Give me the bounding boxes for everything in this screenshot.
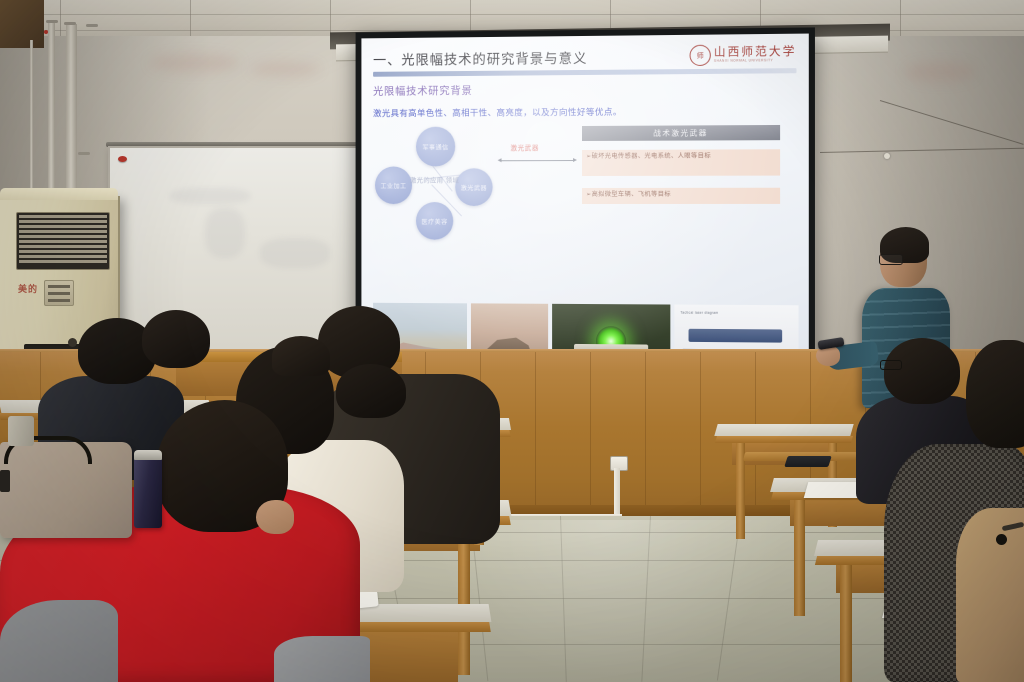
wall-conduit-pipe	[48, 22, 55, 212]
thermos-cap	[134, 450, 162, 460]
panel-item-2: ➢高拟微型车辆、飞机等目标	[582, 188, 780, 204]
university-name-en: SHANXI NORMAL UNIVERSITY	[714, 58, 797, 63]
projection-screen-surface: 一、光限幅技术的研究背景与意义 师 山西师范大学 SHANXI NORMAL U…	[361, 34, 808, 387]
outlet-conduit	[614, 468, 620, 520]
diagram-bubble-1: 军事通信	[416, 127, 455, 167]
panel-heading: 战术激光武器	[582, 125, 780, 141]
diagram-bubble-4: 医疗美容	[416, 202, 453, 240]
audience-a1-hand	[256, 500, 294, 534]
ac-control-panel[interactable]	[44, 280, 74, 306]
thermos-bottle[interactable]	[134, 452, 162, 528]
lecture-hall-photo: ● Redleaf 美的 一、光限幅技术的研究背景与意义 师	[0, 0, 1024, 682]
jacket-grey-panel-right	[274, 636, 370, 682]
university-seal-icon: 师	[690, 45, 711, 66]
slide-title-rule	[373, 68, 796, 77]
ac-grille	[16, 212, 110, 270]
schematic-laser-gun	[689, 329, 783, 343]
handbag-clasp	[0, 470, 10, 492]
audience-a6-glasses-icon	[880, 360, 902, 370]
university-name-cn: 山西师范大学	[714, 47, 797, 59]
slide-content: 一、光限幅技术的研究背景与意义 师 山西师范大学 SHANXI NORMAL U…	[361, 34, 808, 387]
desk-folder[interactable]	[784, 456, 832, 467]
wire-clip	[884, 153, 890, 159]
diagram-center-label: 激光的应用 领域	[406, 176, 463, 185]
cup[interactable]	[8, 416, 34, 446]
slide-body-text: 激光具有高单色性、高相干性、高亮度，以及方向性好等优点。	[373, 105, 796, 120]
diagram-bubble-2: 工业加工	[375, 166, 412, 204]
wall-stain	[150, 54, 240, 72]
wall-stain	[250, 62, 320, 76]
ac-knob[interactable]	[68, 338, 77, 347]
panel-item-1: ➢破坏光电传感器、光电系统、人眼等目标	[582, 149, 780, 176]
slide-title: 一、光限幅技术的研究背景与意义	[373, 46, 587, 68]
pipe-marker-dot	[44, 30, 48, 34]
schematic-caption: Tactical laser diagram	[680, 311, 718, 315]
university-logo: 师 山西师范大学 SHANXI NORMAL UNIVERSITY	[690, 44, 797, 66]
slide-subtitle: 光限幅技术研究背景	[373, 80, 796, 98]
diagram-arrow-label: 激光武器	[510, 142, 539, 152]
wall-stain	[905, 62, 975, 82]
jacket-button	[996, 534, 1007, 545]
ac-top-cap	[0, 188, 118, 200]
jacket-grey-panel	[0, 600, 118, 682]
slide-diagram: 军事通信 工业加工 激光武器 医疗美容 激光的应用 领域 激光武器 战术激光武器…	[373, 125, 796, 243]
ac-brand-mark: 美的	[18, 282, 38, 295]
ceiling-corner-beam	[0, 0, 44, 48]
projection-screen[interactable]: 一、光限幅技术的研究背景与意义 师 山西师范大学 SHANXI NORMAL U…	[356, 27, 815, 392]
whiteboard-magnet[interactable]	[118, 156, 127, 162]
presenter-glasses-icon	[879, 254, 903, 265]
diagram-bubble-3: 激光武器	[455, 168, 492, 206]
diagram-arrow	[501, 160, 574, 161]
